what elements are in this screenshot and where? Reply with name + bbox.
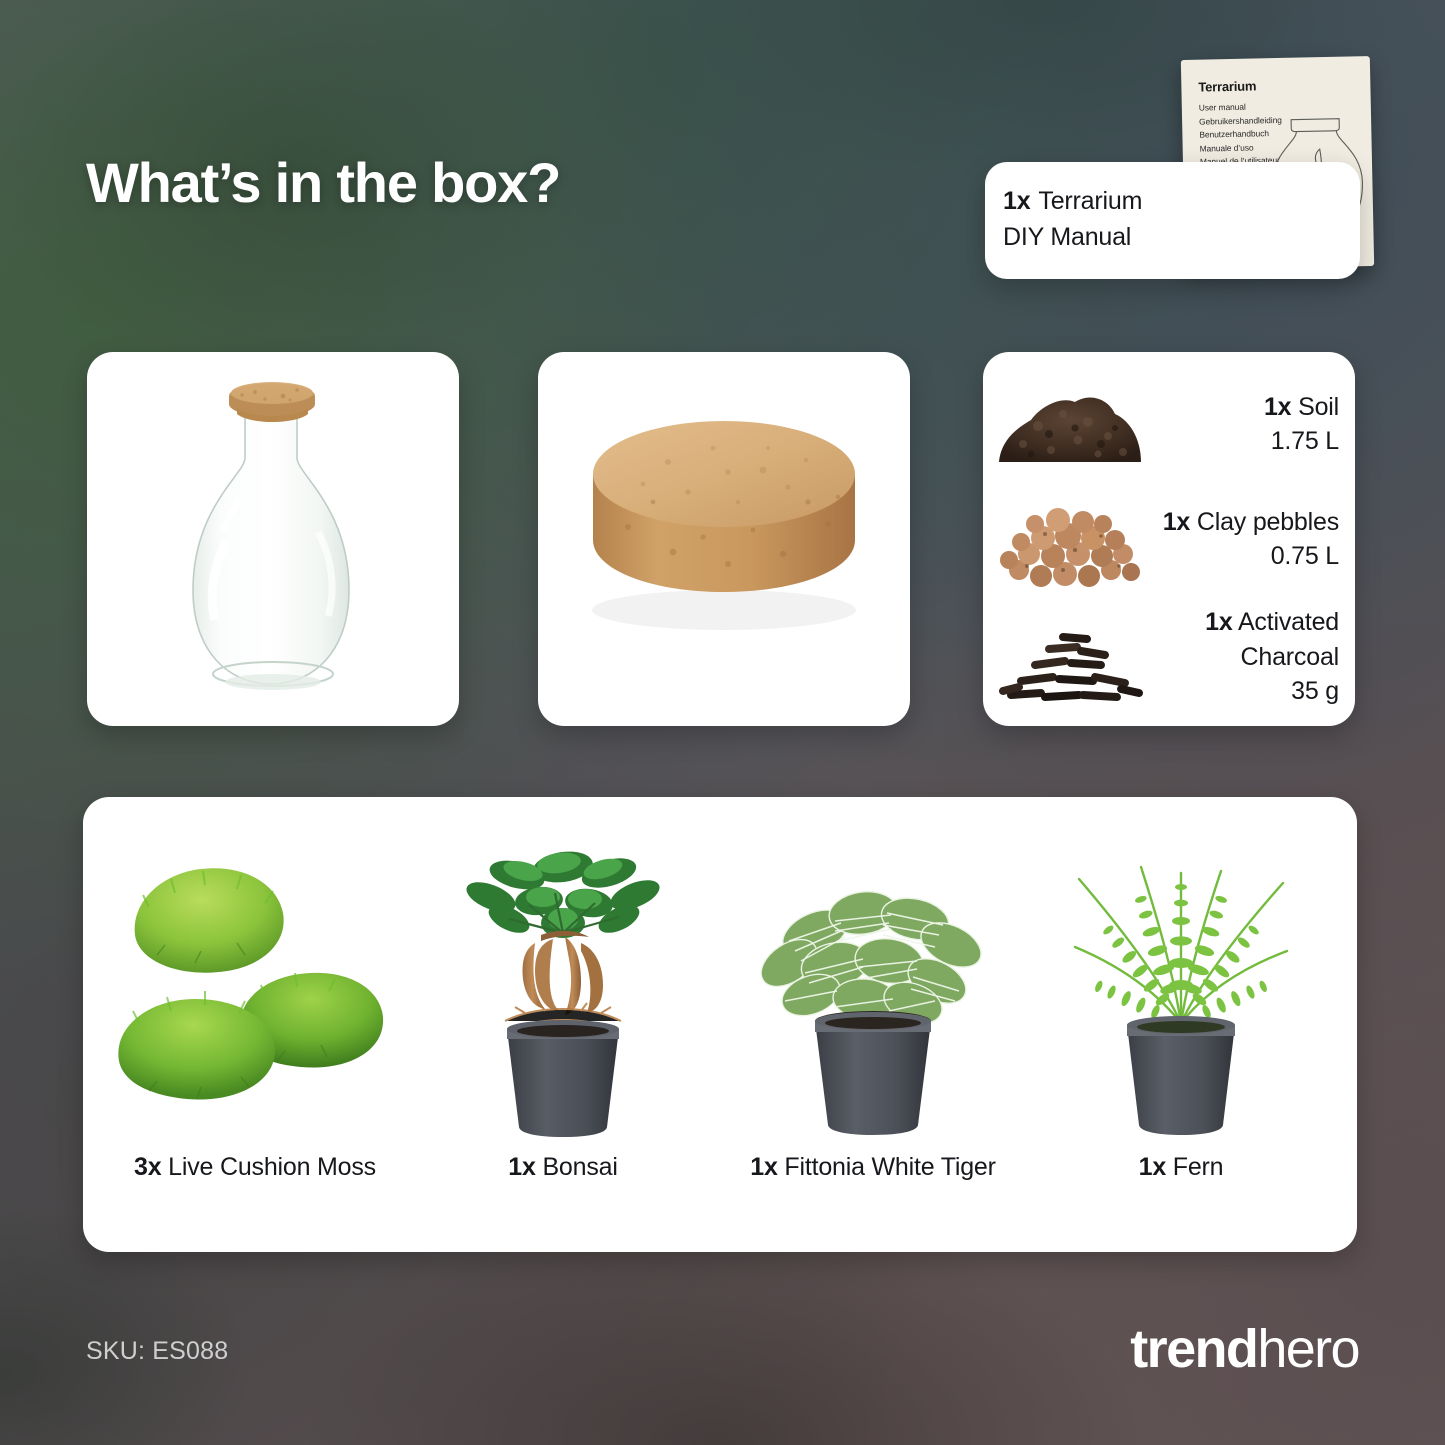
fern-caption: 1x Fern [1031,1149,1331,1186]
brand-logo-light: hero [1257,1319,1359,1379]
charcoal-amount: 35 g [1291,677,1339,705]
charcoal-qty: 1x [1205,608,1232,636]
manual-label-line1: Terrarium [1038,187,1142,215]
infographic-canvas: What’s in the box? Terrarium User manual… [0,0,1445,1445]
soil-pile-icon [983,374,1158,474]
bonsai-qty: 1x [508,1153,535,1181]
item-card-bottle: 1x bottle [87,352,459,726]
clay-label: 1x Clay pebbles 0.75 L [1158,505,1355,574]
fern-name: Fern [1173,1153,1224,1181]
brand-logo-bold: trend [1130,1319,1257,1379]
media-row-soil: 1x Soil 1.75 L [983,374,1355,474]
clay-amount: 0.75 L [1271,542,1339,570]
page-title: What’s in the box? [86,150,560,215]
media-row-clay: 1x Clay pebbles 0.75 L [983,480,1355,598]
manual-qty: 1x [1003,187,1030,215]
soil-name: Soil [1298,393,1339,421]
fern-qty: 1x [1139,1153,1166,1181]
fittonia-icon [723,815,1023,1145]
clay-name: Clay pebbles [1197,508,1339,536]
item-card-media: 1x Soil 1.75 L [983,352,1355,726]
fittonia-caption: 1x Fittonia White Tiger [723,1149,1023,1186]
brand-logo: trendhero [1130,1318,1359,1380]
fittonia-name: Fittonia White Tiger [784,1153,995,1181]
charcoal-label: 1x Activated Charcoal 35 g [1158,605,1355,709]
soil-qty: 1x [1264,393,1291,421]
moss-name: Live Cushion Moss [168,1153,376,1181]
bonsai-caption: 1x Bonsai [413,1149,713,1186]
manual-label-line2: DIY Manual [1003,223,1131,251]
moss-caption: 3x Live Cushion Moss [105,1149,405,1186]
manual-card-text: 1xTerrarium DIY Manual [1003,184,1223,255]
clay-qty: 1x [1163,508,1190,536]
bonsai-name: Bonsai [542,1153,617,1181]
plants-card: 3x Live Cushion Moss 1x Bonsai 1x Fitton… [83,797,1357,1252]
media-row-charcoal: 1x Activated Charcoal 35 g [983,602,1355,712]
sku-text: SKU: ES088 [86,1337,228,1366]
fern-icon [1031,815,1331,1145]
charcoal-name: Activated Charcoal [1238,608,1339,671]
fittonia-qty: 1x [750,1153,777,1181]
glass-bottle-icon [87,352,459,726]
cork-disc-icon [538,352,910,726]
booklet-title: Terrarium [1198,78,1256,94]
bonsai-icon [413,815,713,1145]
cushion-moss-icon [105,815,405,1145]
manual-card: 1xTerrarium DIY Manual [985,162,1360,279]
clay-pebbles-icon [983,480,1158,598]
item-card-cork: 1x cork [538,352,910,726]
moss-qty: 3x [134,1153,161,1181]
soil-amount: 1.75 L [1271,427,1339,455]
charcoal-pile-icon [983,602,1158,712]
soil-label: 1x Soil 1.75 L [1158,390,1355,459]
